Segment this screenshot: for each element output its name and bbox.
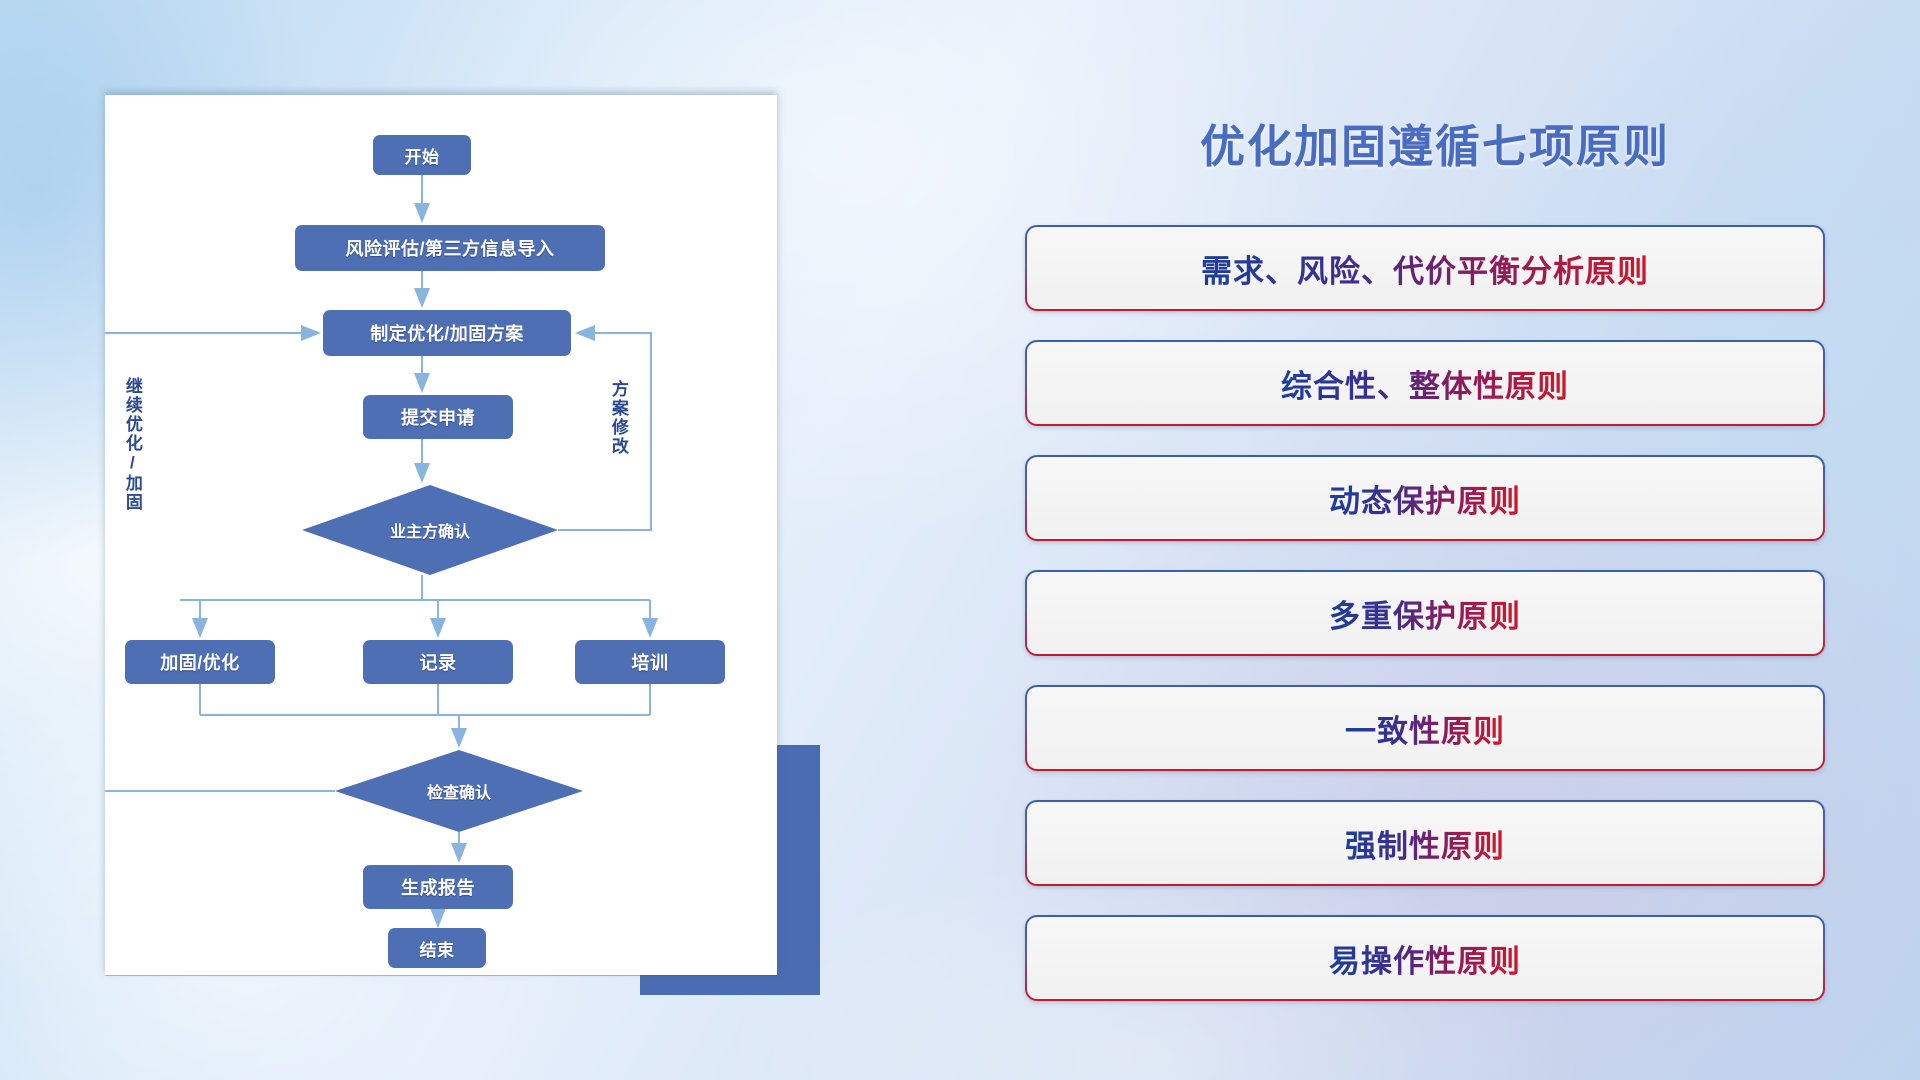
principle-item[interactable]: 一致性原则	[1025, 685, 1825, 771]
flow-node-end[interactable]: 结束	[388, 928, 486, 968]
principle-item[interactable]: 多重保护原则	[1025, 570, 1825, 656]
principle-label: 易操作性原则	[1329, 936, 1521, 981]
flow-node-label: 业主方确认	[390, 518, 470, 542]
flow-node-label: 检查确认	[427, 779, 491, 803]
principle-label: 一致性原则	[1345, 706, 1505, 751]
flow-node-label: 风险评估/第三方信息导入	[346, 235, 555, 261]
flow-node-start[interactable]: 开始	[373, 135, 471, 175]
principles-list: 需求、风险、代价平衡分析原则 综合性、整体性原则 动态保护原则 多重保护原则 一…	[1025, 225, 1825, 1030]
principle-label: 需求、风险、代价平衡分析原则	[1201, 246, 1649, 291]
principle-item-inner: 动态保护原则	[1027, 457, 1823, 539]
flow-node-training[interactable]: 培训	[575, 640, 725, 684]
principle-item[interactable]: 强制性原则	[1025, 800, 1825, 886]
principle-label: 动态保护原则	[1329, 476, 1521, 521]
principles-panel: 优化加固遵循七项原则 需求、风险、代价平衡分析原则 综合性、整体性原则 动态保护…	[1020, 90, 1850, 1020]
principle-label: 强制性原则	[1345, 821, 1505, 866]
process-flowchart: 继续优化/加固 方案修改 开始 风险评估/第三方信息导入 制定优化/加固方案 提…	[105, 95, 777, 975]
flow-label-continue-optimize: 继续优化/加固	[123, 377, 141, 512]
principle-item-inner: 强制性原则	[1027, 802, 1823, 884]
flow-node-generate-report[interactable]: 生成报告	[363, 865, 513, 909]
principle-item[interactable]: 需求、风险、代价平衡分析原则	[1025, 225, 1825, 311]
flow-node-risk-assessment[interactable]: 风险评估/第三方信息导入	[295, 225, 605, 271]
flow-label-plan-revision: 方案修改	[609, 380, 627, 456]
principle-label: 多重保护原则	[1329, 591, 1521, 636]
flow-node-label: 培训	[632, 649, 669, 675]
page-title: 优化加固遵循七项原则	[1020, 110, 1850, 175]
flow-node-make-plan[interactable]: 制定优化/加固方案	[323, 310, 571, 356]
principle-item-inner: 一致性原则	[1027, 687, 1823, 769]
flow-node-label: 生成报告	[401, 874, 475, 900]
flow-node-label: 结束	[420, 936, 455, 961]
flow-node-reinforce-optimize[interactable]: 加固/优化	[125, 640, 275, 684]
flow-node-label: 开始	[405, 143, 440, 168]
flow-node-record[interactable]: 记录	[363, 640, 513, 684]
flow-node-label: 加固/优化	[160, 649, 240, 675]
principle-item-inner: 综合性、整体性原则	[1027, 342, 1823, 424]
principle-item[interactable]: 动态保护原则	[1025, 455, 1825, 541]
principle-item-inner: 需求、风险、代价平衡分析原则	[1027, 227, 1823, 309]
principle-item-inner: 易操作性原则	[1027, 917, 1823, 999]
flow-node-label: 记录	[420, 649, 457, 675]
principle-item[interactable]: 综合性、整体性原则	[1025, 340, 1825, 426]
flow-node-label: 提交申请	[401, 404, 475, 430]
flowchart-card: 继续优化/加固 方案修改 开始 风险评估/第三方信息导入 制定优化/加固方案 提…	[105, 95, 777, 975]
flow-node-label: 制定优化/加固方案	[370, 320, 524, 346]
principle-item-inner: 多重保护原则	[1027, 572, 1823, 654]
principle-item[interactable]: 易操作性原则	[1025, 915, 1825, 1001]
flow-node-submit-application[interactable]: 提交申请	[363, 395, 513, 439]
principle-label: 综合性、整体性原则	[1281, 361, 1569, 406]
